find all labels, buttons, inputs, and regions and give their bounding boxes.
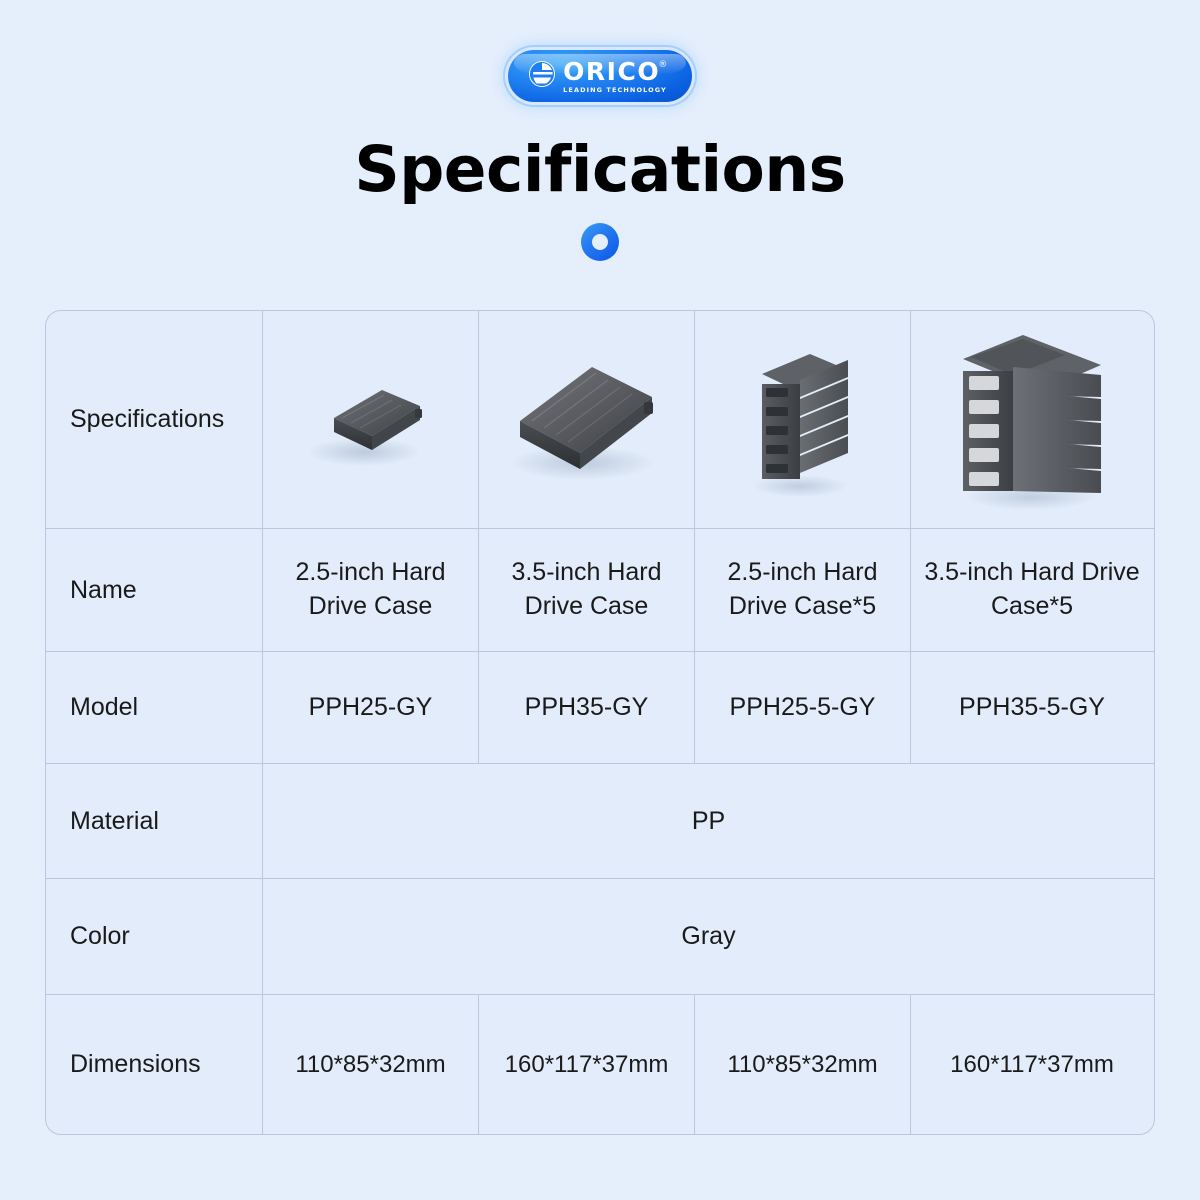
registered-mark-icon: ® — [658, 60, 669, 70]
product-model-1: PPH25-GY — [263, 652, 479, 763]
specifications-table: Specifications — [45, 310, 1155, 1135]
product-dimensions-4: 160*117*37mm — [911, 995, 1153, 1134]
product-model-2: PPH35-GY — [479, 652, 695, 763]
row-label-material: Material — [46, 764, 263, 878]
row-label-color: Color — [46, 879, 263, 994]
row-label-name: Name — [46, 529, 263, 651]
table-row-model: Model PPH25-GY PPH35-GY PPH25-5-GY PPH35… — [46, 652, 1154, 764]
product-model-4: PPH35-5-GY — [911, 652, 1153, 763]
brand-logo: ORICO LEADING TECHNOLOGY ® — [0, 50, 1200, 102]
ring-accent-icon — [581, 223, 619, 261]
single-small-case-icon — [269, 315, 472, 524]
stacked-small-case-icon — [701, 315, 904, 524]
product-image-cell-1 — [263, 311, 479, 528]
globe-icon — [527, 59, 557, 94]
table-row-material: Material PP — [46, 764, 1154, 879]
table-row-color: Color Gray — [46, 879, 1154, 995]
product-name-1: 2.5-inch Hard Drive Case — [263, 529, 479, 651]
table-row-name: Name 2.5-inch Hard Drive Case 3.5-inch H… — [46, 529, 1154, 652]
brand-tagline: LEADING TECHNOLOGY — [563, 87, 667, 94]
product-dimensions-2: 160*117*37mm — [479, 995, 695, 1134]
brand-logo-badge: ORICO LEADING TECHNOLOGY ® — [508, 50, 692, 102]
table-row-dimensions: Dimensions 110*85*32mm 160*117*37mm 110*… — [46, 995, 1154, 1134]
product-image-cell-3 — [695, 311, 911, 528]
brand-name: ORICO — [563, 59, 660, 84]
product-name-3: 2.5-inch Hard Drive Case*5 — [695, 529, 911, 651]
color-value: Gray — [263, 879, 1154, 994]
product-model-3: PPH25-5-GY — [695, 652, 911, 763]
single-large-case-icon — [485, 315, 688, 524]
row-label-specifications: Specifications — [46, 311, 263, 528]
product-dimensions-3: 110*85*32mm — [695, 995, 911, 1134]
material-value: PP — [263, 764, 1154, 878]
product-dimensions-1: 110*85*32mm — [263, 995, 479, 1134]
stacked-large-case-icon — [917, 315, 1147, 524]
row-label-dimensions: Dimensions — [46, 995, 263, 1134]
table-row-images: Specifications — [46, 311, 1154, 529]
product-image-cell-4 — [911, 311, 1153, 528]
product-name-4: 3.5-inch Hard Drive Case*5 — [911, 529, 1153, 651]
page-title: Specifications — [0, 133, 1200, 206]
product-image-cell-2 — [479, 311, 695, 528]
product-name-2: 3.5-inch Hard Drive Case — [479, 529, 695, 651]
row-label-model: Model — [46, 652, 263, 763]
